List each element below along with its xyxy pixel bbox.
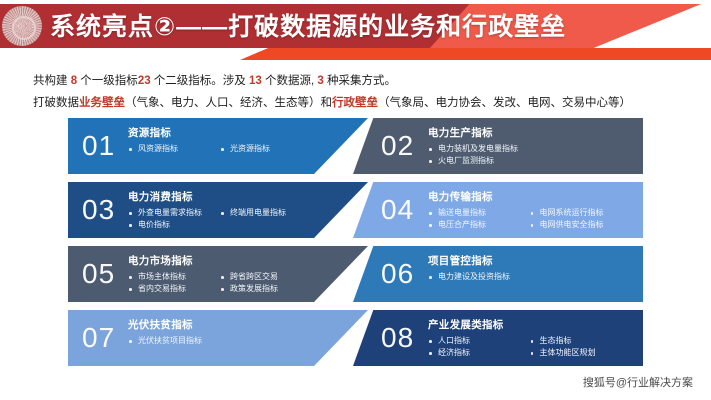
- business-barrier-label: 业务壁垒: [79, 97, 125, 109]
- indicator-card-04[interactable]: 04 电力传输指标 输送电量指标 电网系统运行指标 电压合产指标 电网供电安全指…: [353, 182, 643, 238]
- indicator-card-07[interactable]: 07 光伏扶贫指标 光伏扶贫项目指标: [68, 310, 368, 366]
- summary-line-2: 打破数据业务壁垒（气象、电力、人口、经济、生态等）和行政壁垒（气象局、电力协会、…: [33, 94, 631, 110]
- header-banner: 系统亮点②——打破数据源的业务和行政壁垒: [0, 0, 711, 62]
- list-item: 电网供电安全指标: [530, 219, 632, 231]
- card-number: 08: [381, 321, 414, 355]
- summary-text: 个二级指标。涉及: [151, 75, 249, 87]
- card-item-list: 电力装机及发电量指标 火电厂监测指标: [428, 143, 631, 167]
- indicator-card-03[interactable]: 03 电力消费指标 外查电量需求指标 终端用电量指标 电价指标: [68, 182, 368, 238]
- card-item-list: 光伏扶贫项目指标: [128, 335, 312, 347]
- indicator-card-02[interactable]: 02 电力生产指标 电力装机及发电量指标 火电厂监测指标: [353, 118, 643, 174]
- card-heading: 电力传输指标: [428, 189, 631, 204]
- card-heading: 资源指标: [128, 125, 312, 140]
- list-item: 输送电量指标: [428, 207, 530, 219]
- card-row: 05 电力市场指标 市场主体指标 跨省跨区交易 省内交易指标 政策发展指标 06…: [0, 246, 711, 302]
- summary-line-1: 共构建 8 个一级指标23 个二级指标。涉及 13 个数据源, 3 种采集方式。: [33, 72, 396, 88]
- card-body: 光伏扶贫指标 光伏扶贫项目指标: [128, 317, 312, 347]
- card-item-list: 市场主体指标 跨省跨区交易 省内交易指标 政策发展指标: [128, 271, 312, 295]
- card-body: 项目管控指标 电力建设及投资指标: [428, 253, 631, 283]
- indicator-card-05[interactable]: 05 电力市场指标 市场主体指标 跨省跨区交易 省内交易指标 政策发展指标: [68, 246, 368, 302]
- list-item: 主体功能区规划: [530, 347, 632, 359]
- list-item: 市场主体指标: [128, 271, 220, 283]
- card-item-list: 外查电量需求指标 终端用电量指标 电价指标: [128, 207, 312, 231]
- card-number: 05: [82, 257, 115, 291]
- card-item-list: 输送电量指标 电网系统运行指标 电压合产指标 电网供电安全指标: [428, 207, 631, 231]
- card-row: 07 光伏扶贫指标 光伏扶贫项目指标 08 产业发展类指标 人口指标 生态指标 …: [0, 310, 711, 366]
- admin-barrier-label: 行政壁垒: [332, 97, 378, 109]
- list-item: 生态指标: [530, 335, 632, 347]
- card-heading: 产业发展类指标: [428, 317, 631, 332]
- page-title: 系统亮点②——打破数据源的业务和行政壁垒: [50, 8, 566, 46]
- summary-text: 种采集方式。: [324, 75, 396, 87]
- card-heading: 项目管控指标: [428, 253, 631, 268]
- list-item: 政策发展指标: [220, 283, 312, 295]
- slide: 系统亮点②——打破数据源的业务和行政壁垒 共构建 8 个一级指标23 个二级指标…: [0, 0, 711, 400]
- list-item: 经济指标: [428, 347, 530, 359]
- card-body: 电力市场指标 市场主体指标 跨省跨区交易 省内交易指标 政策发展指标: [128, 253, 312, 295]
- metric-secondary-count: 23: [138, 75, 151, 87]
- summary-text: 个数据源,: [262, 75, 318, 87]
- seal-emblem-icon: [2, 6, 42, 46]
- list-item: 电力建设及投资指标: [428, 271, 631, 283]
- list-item: 人口指标: [428, 335, 530, 347]
- banner-orange-bar: [240, 48, 711, 60]
- footer-credit: 搜狐号@行业解决方案: [583, 374, 693, 390]
- card-number: 01: [82, 129, 115, 163]
- list-item: 电价指标: [128, 219, 220, 231]
- card-number: 06: [381, 257, 414, 291]
- card-heading: 电力市场指标: [128, 253, 312, 268]
- indicator-card-06[interactable]: 06 项目管控指标 电力建设及投资指标: [353, 246, 643, 302]
- indicator-card-01[interactable]: 01 资源指标 风资源指标 光资源指标: [68, 118, 368, 174]
- card-body: 电力消费指标 外查电量需求指标 终端用电量指标 电价指标: [128, 189, 312, 231]
- summary-text: 打破数据: [33, 97, 79, 109]
- card-item-list: 电力建设及投资指标: [428, 271, 631, 283]
- list-item: 终端用电量指标: [220, 207, 312, 219]
- list-item: 火电厂监测指标: [428, 155, 631, 167]
- list-item: 电网系统运行指标: [530, 207, 632, 219]
- card-row: 03 电力消费指标 外查电量需求指标 终端用电量指标 电价指标 04 电力传输指…: [0, 182, 711, 238]
- list-item: 省内交易指标: [128, 283, 220, 295]
- card-item-list: 风资源指标 光资源指标: [128, 143, 312, 155]
- card-number: 03: [82, 193, 115, 227]
- card-body: 资源指标 风资源指标 光资源指标: [128, 125, 312, 155]
- card-number: 02: [381, 129, 414, 163]
- list-item: 外查电量需求指标: [128, 207, 220, 219]
- list-item: 电力装机及发电量指标: [428, 143, 631, 155]
- card-item-list: 人口指标 生态指标 经济指标 主体功能区规划: [428, 335, 631, 359]
- card-row: 01 资源指标 风资源指标 光资源指标 02 电力生产指标 电力装机及发电量指标…: [0, 118, 711, 174]
- summary-text: 个一级指标: [77, 75, 138, 87]
- list-item: 光资源指标: [220, 143, 312, 155]
- indicator-card-08[interactable]: 08 产业发展类指标 人口指标 生态指标 经济指标 主体功能区规划: [353, 310, 643, 366]
- summary-text: （气象、电力、人口、经济、生态等）和: [125, 97, 332, 109]
- card-number: 07: [82, 321, 115, 355]
- summary-text: 共构建: [33, 75, 71, 87]
- list-item: 跨省跨区交易: [220, 271, 312, 283]
- card-heading: 电力消费指标: [128, 189, 312, 204]
- card-heading: 电力生产指标: [428, 125, 631, 140]
- list-item: 光伏扶贫项目指标: [128, 335, 312, 347]
- list-item: 电压合产指标: [428, 219, 530, 231]
- card-body: 电力生产指标 电力装机及发电量指标 火电厂监测指标: [428, 125, 631, 167]
- indicator-card-grid: 01 资源指标 风资源指标 光资源指标 02 电力生产指标 电力装机及发电量指标…: [0, 118, 711, 376]
- list-item: 风资源指标: [128, 143, 220, 155]
- metric-datasource-count: 13: [249, 75, 262, 87]
- card-heading: 光伏扶贫指标: [128, 317, 312, 332]
- summary-text: （气象局、电力协会、发改、电网、交易中心等）: [378, 97, 631, 109]
- card-body: 电力传输指标 输送电量指标 电网系统运行指标 电压合产指标 电网供电安全指标: [428, 189, 631, 231]
- card-number: 04: [381, 193, 414, 227]
- card-body: 产业发展类指标 人口指标 生态指标 经济指标 主体功能区规划: [428, 317, 631, 359]
